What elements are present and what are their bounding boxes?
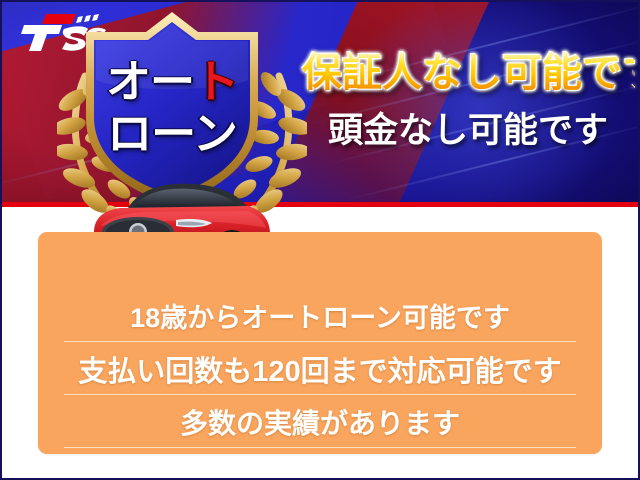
headline-primary: 保証人なし可能です — [302, 50, 634, 96]
list-separator — [64, 447, 576, 448]
benefit-text: 18歳からオートローン可能です — [130, 296, 510, 335]
benefit-text: 多数の実績があります — [180, 402, 460, 442]
list-item: 多数の実績があります — [38, 395, 602, 448]
benefit-text: 支払い回数も120回まで対応可能です — [78, 348, 561, 390]
list-item: 支払い回数も120回まで対応可能です — [38, 342, 602, 395]
benefits-list: 18歳からオートローン可能です 支払い回数も120回まで対応可能です 多数の実績… — [38, 232, 602, 454]
auto-loan-banner: オート ローン 保証人なし可能です 頭金なし可能です — [0, 0, 640, 480]
headline-secondary: 頭金なし可能です — [302, 110, 634, 152]
list-item: 18歳からオートローン可能です — [38, 289, 602, 342]
